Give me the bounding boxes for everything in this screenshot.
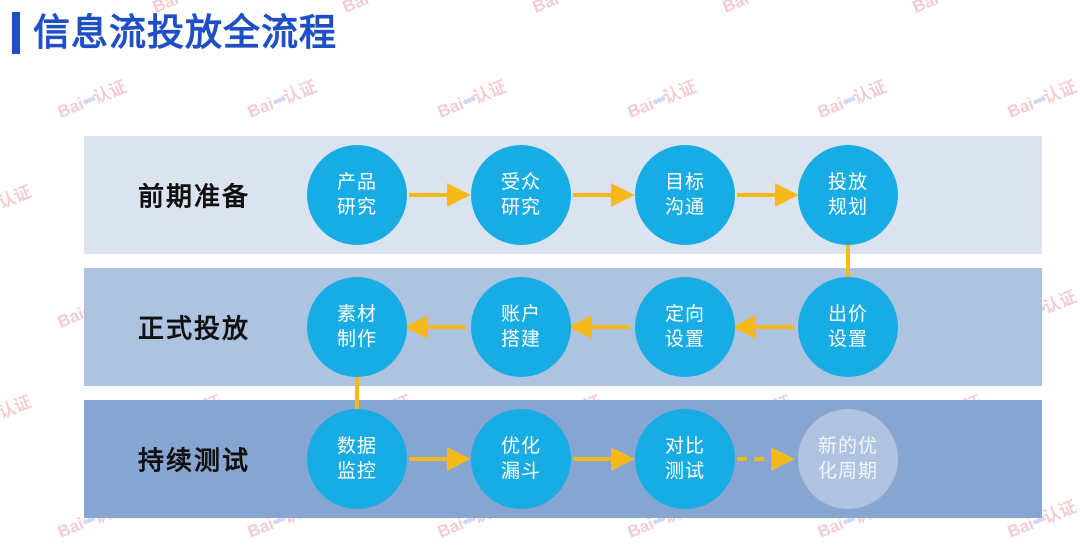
flow-node-bidding-settings[interactable]: 出价 设置 [798, 277, 898, 377]
flow-node-targeting-settings[interactable]: 定向 设置 [635, 277, 735, 377]
node-line-2: 沟通 [665, 195, 705, 220]
flow-node-ab-testing[interactable]: 对比 测试 [635, 409, 735, 509]
node-line-2: 测试 [665, 459, 705, 484]
page-title: 信息流投放全流程 [33, 8, 337, 58]
node-line-2: 研究 [501, 195, 541, 220]
flow-node-goal-communication[interactable]: 目标 沟通 [635, 145, 735, 245]
node-line-2: 设置 [828, 327, 868, 352]
node-line-2: 设置 [665, 327, 705, 352]
node-line-2: 化周期 [818, 459, 878, 484]
node-line-1: 对比 [665, 434, 705, 459]
flow-node-product-research[interactable]: 产品 研究 [307, 145, 407, 245]
node-line-2: 规划 [828, 195, 868, 220]
node-line-1: 优化 [501, 434, 541, 459]
node-line-1: 出价 [828, 302, 868, 327]
node-line-2: 漏斗 [501, 459, 541, 484]
node-line-2: 监控 [337, 459, 377, 484]
node-line-2: 搭建 [501, 327, 541, 352]
node-line-2: 制作 [337, 327, 377, 352]
flow-node-data-monitoring[interactable]: 数据 监控 [307, 409, 407, 509]
node-line-1: 素材 [337, 302, 377, 327]
node-line-1: 产品 [337, 170, 377, 195]
title-accent-bar [12, 12, 20, 54]
node-line-1: 新的优 [818, 434, 878, 459]
flow-node-new-optimization-cycle[interactable]: 新的优 化周期 [798, 409, 898, 509]
node-line-1: 受众 [501, 170, 541, 195]
node-line-2: 研究 [337, 195, 377, 220]
node-line-1: 数据 [337, 434, 377, 459]
node-line-1: 目标 [665, 170, 705, 195]
page-header: 信息流投放全流程 [0, 0, 1080, 100]
flow-node-optimize-funnel[interactable]: 优化 漏斗 [471, 409, 571, 509]
flow-node-delivery-planning[interactable]: 投放 规划 [798, 145, 898, 245]
flow-node-creative-production[interactable]: 素材 制作 [307, 277, 407, 377]
node-line-1: 投放 [828, 170, 868, 195]
node-line-1: 定向 [665, 302, 705, 327]
flow-node-audience-research[interactable]: 受众 研究 [471, 145, 571, 245]
flow-node-account-setup[interactable]: 账户 搭建 [471, 277, 571, 377]
node-line-1: 账户 [501, 302, 541, 327]
